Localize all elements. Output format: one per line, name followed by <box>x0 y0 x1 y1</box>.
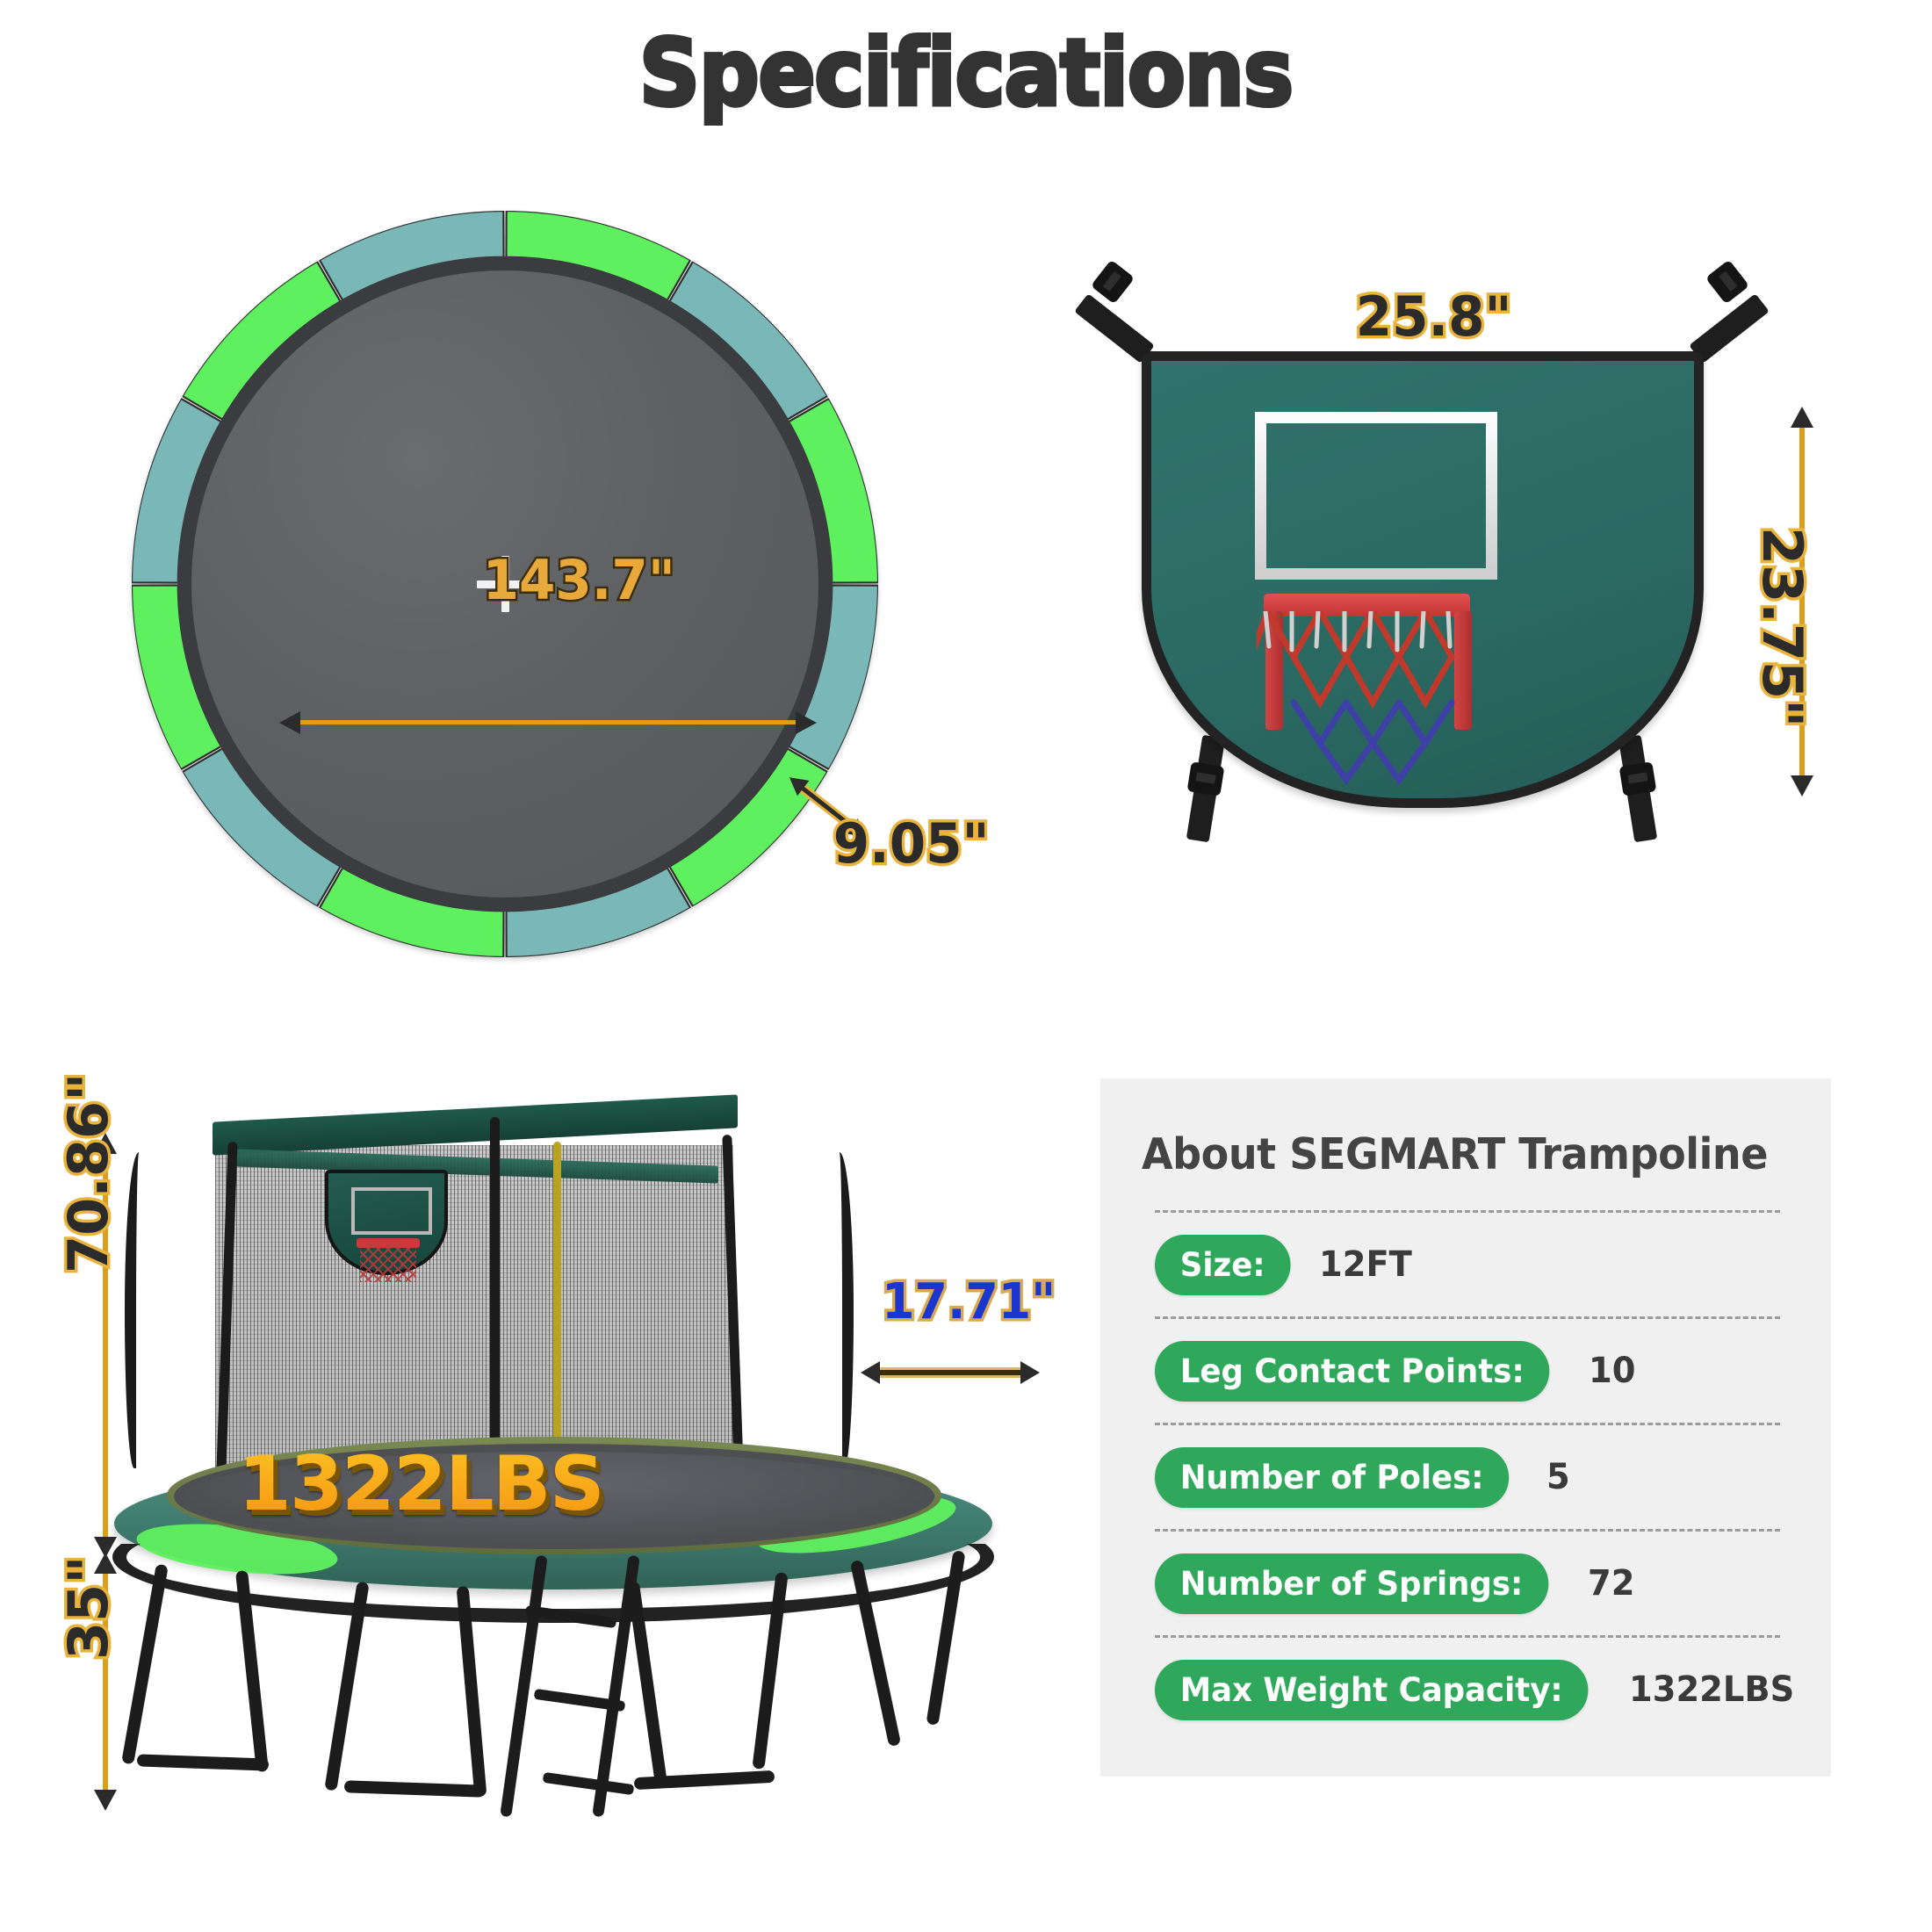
mini-backboard <box>325 1170 448 1275</box>
leg-foot-2 <box>344 1780 485 1798</box>
page-title: Specifications <box>77 19 1855 126</box>
spec-value: 10 <box>1589 1351 1635 1391</box>
mini-net-icon <box>360 1247 416 1282</box>
buckle-bottom-right-icon <box>1619 761 1657 797</box>
leg-foot-1 <box>137 1754 269 1770</box>
buckle-bottom-left-icon <box>1187 761 1225 797</box>
label-pad-width: 9.05" <box>833 817 990 871</box>
ladder-step-3 <box>543 1772 635 1795</box>
backboard <box>1142 351 1704 808</box>
spec-row: Leg Contact Points:10 <box>1155 1319 1780 1423</box>
spec-row: Size:12FT <box>1155 1213 1780 1316</box>
spec-label-pill: Number of Poles: <box>1155 1447 1509 1508</box>
spec-value: 1322LBS <box>1629 1669 1794 1710</box>
leg-1 <box>121 1564 169 1765</box>
arrow-up-icon <box>1791 407 1813 428</box>
hoop-diagram <box>1142 351 1704 808</box>
label-mat-diameter: 143.7" <box>483 553 675 608</box>
spec-value: 5 <box>1546 1457 1570 1497</box>
label-hoop-height: 23.75" <box>1755 527 1809 727</box>
diameter-dimension-line <box>299 720 797 724</box>
strap-top-left <box>1074 293 1155 364</box>
curved-pole-left <box>125 1152 148 1468</box>
mini-target-square <box>351 1187 432 1235</box>
spec-value: 12FT <box>1319 1244 1412 1285</box>
backboard-target-square <box>1255 412 1497 580</box>
arrow-down-icon <box>1791 775 1813 797</box>
label-hoop-width: 25.8" <box>1356 290 1512 344</box>
spec-value: 72 <box>1588 1563 1634 1604</box>
spec-row: Number of Poles:5 <box>1155 1425 1780 1529</box>
spec-label-pill: Size: <box>1155 1235 1290 1295</box>
trampoline-diagram: 1322LBS <box>61 1089 1054 1827</box>
spec-list: Size:12FTLeg Contact Points:10Number of … <box>1155 1210 1780 1741</box>
about-panel-title: About SEGMART Trampoline <box>1142 1129 1768 1179</box>
arrow-left-icon <box>279 711 300 734</box>
weight-capacity-badge: 1322LBS <box>238 1440 603 1528</box>
spec-row: Number of Springs:72 <box>1155 1532 1780 1635</box>
specifications-page: Specifications 143.7" 9.05" 25.8" 23.75" <box>0 0 1932 1932</box>
buckle-top-right-icon <box>1705 260 1749 305</box>
about-panel: About SEGMART Trampoline Size:12FTLeg Co… <box>1100 1078 1831 1777</box>
spec-label-pill: Max Weight Capacity: <box>1155 1660 1588 1720</box>
spec-label-pill: Leg Contact Points: <box>1155 1341 1549 1402</box>
hoop-net-icon <box>1257 611 1476 796</box>
arrow-right-icon <box>796 711 817 734</box>
spec-row: Max Weight Capacity:1322LBS <box>1155 1638 1780 1741</box>
buckle-top-left-icon <box>1091 260 1135 305</box>
spec-label-pill: Number of Springs: <box>1155 1554 1548 1614</box>
curved-pole-right <box>830 1152 854 1468</box>
